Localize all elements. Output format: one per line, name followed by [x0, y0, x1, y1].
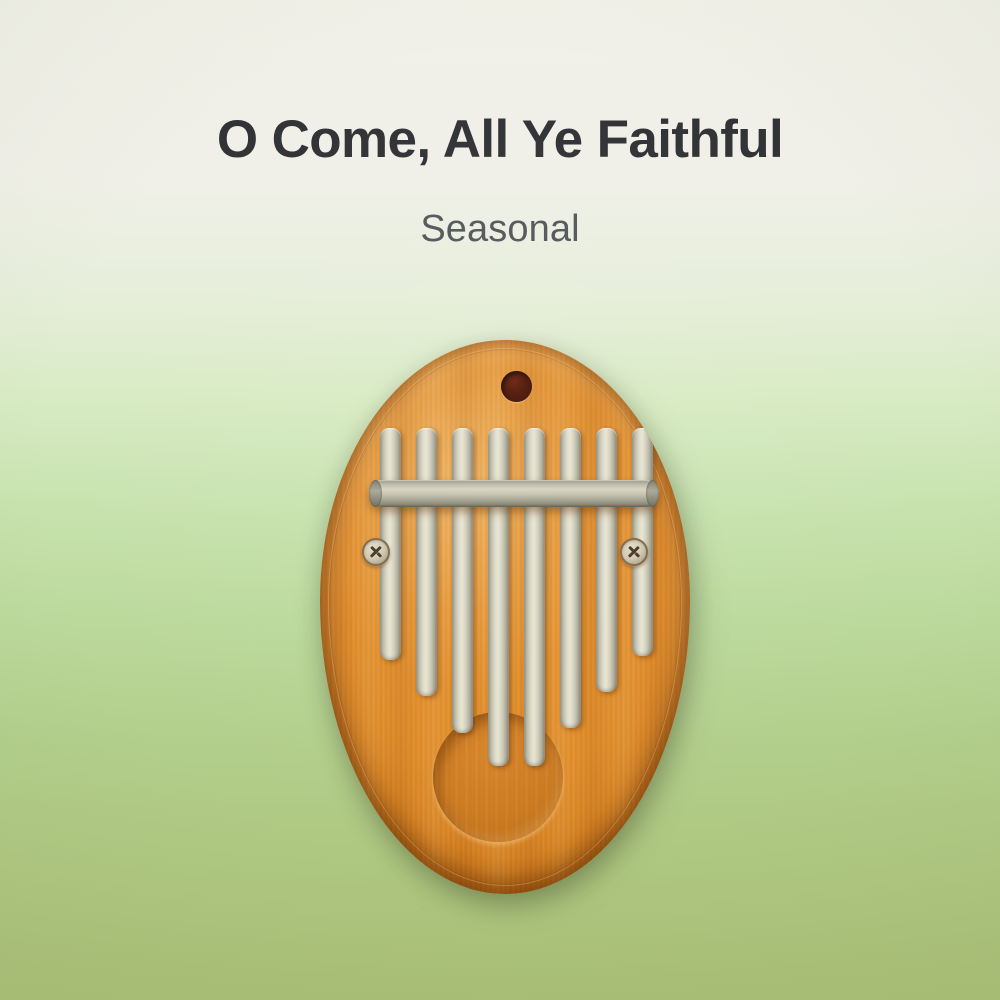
- tine-4[interactable]: [488, 428, 509, 766]
- bridge-bar: [369, 480, 659, 507]
- screw-left: [362, 538, 390, 566]
- tine-7[interactable]: [596, 428, 617, 692]
- app-stage: O Come, All Ye Faithful Seasonal: [0, 0, 1000, 1000]
- phillips-cross-icon: [369, 545, 383, 559]
- kalimba-instrument[interactable]: [304, 336, 696, 898]
- tine-6[interactable]: [560, 428, 581, 728]
- tine-2[interactable]: [416, 428, 437, 696]
- page-subtitle: Seasonal: [0, 168, 1000, 250]
- screw-right: [620, 538, 648, 566]
- phillips-cross-icon: [627, 545, 641, 559]
- tine-5[interactable]: [524, 428, 545, 766]
- tine-group: [320, 340, 690, 894]
- bridge-cap-right-icon: [646, 480, 659, 507]
- page-title: O Come, All Ye Faithful: [0, 112, 1000, 168]
- kalimba-body[interactable]: [320, 340, 690, 894]
- tine-3[interactable]: [452, 428, 473, 733]
- bridge-cap-left-icon: [369, 480, 382, 507]
- header: O Come, All Ye Faithful Seasonal: [0, 0, 1000, 250]
